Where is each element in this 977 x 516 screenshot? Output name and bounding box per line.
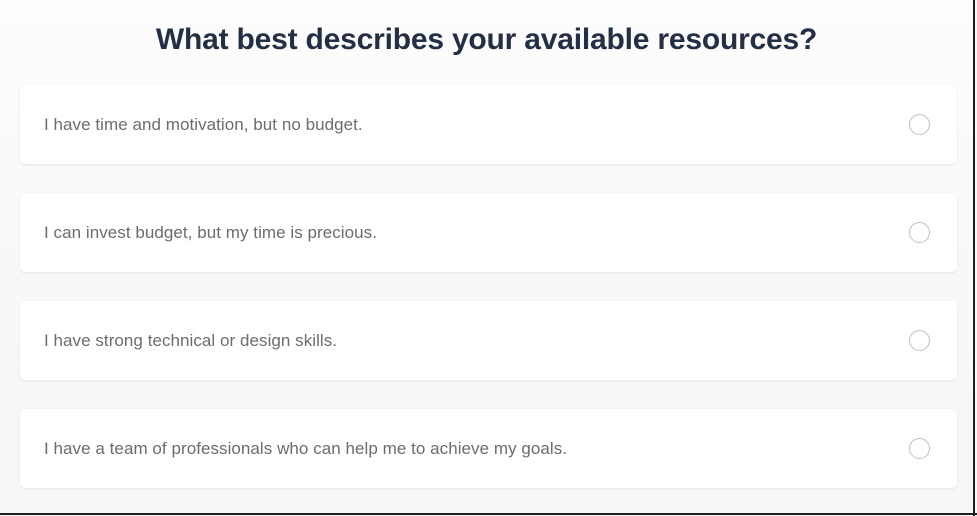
answer-option-label: I can invest budget, but my time is prec… [44,221,377,245]
viewport-border-right [973,0,975,516]
page-title: What best describes your available resou… [0,18,973,62]
radio-button-icon[interactable] [909,114,930,135]
answer-option-2[interactable]: I can invest budget, but my time is prec… [20,193,957,272]
radio-button-icon[interactable] [909,330,930,351]
answer-option-label: I have time and motivation, but no budge… [44,113,363,137]
answer-option-3[interactable]: I have strong technical or design skills… [20,301,957,380]
answer-options-list: I have time and motivation, but no budge… [0,85,973,488]
quiz-page: What best describes your available resou… [0,0,973,512]
answer-option-4[interactable]: I have a team of professionals who can h… [20,409,957,488]
answer-option-label: I have a team of professionals who can h… [44,437,567,461]
answer-option-1[interactable]: I have time and motivation, but no budge… [20,85,957,164]
radio-button-icon[interactable] [909,438,930,459]
answer-option-label: I have strong technical or design skills… [44,329,337,353]
viewport-border-bottom [0,513,977,515]
radio-button-icon[interactable] [909,222,930,243]
